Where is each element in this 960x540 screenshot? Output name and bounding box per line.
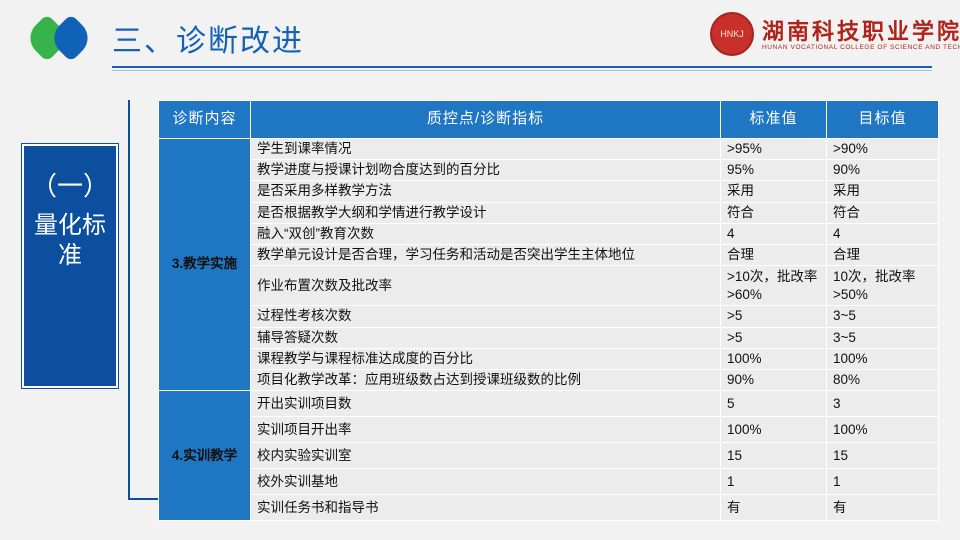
standard-cell: 95% [721,160,827,181]
standard-cell: 90% [721,369,827,390]
column-header-standard: 标准值 [721,101,827,139]
table-row: 实训项目开出率 100% 100% [159,417,939,443]
target-cell: 80% [827,369,939,390]
target-cell: 1 [827,469,939,495]
target-cell: 3 [827,391,939,417]
section-number: （一） [24,172,116,201]
indicator-cell: 辅导答疑次数 [251,327,721,348]
standard-cell: 100% [721,417,827,443]
table-row: 过程性考核次数 >5 3~5 [159,306,939,327]
table-row: 作业布置次数及批改率 >10次，批改率>60% 10次，批改率>50% [159,266,939,306]
target-cell: 90% [827,160,939,181]
standard-cell: 1 [721,469,827,495]
indicator-cell: 实训任务书和指导书 [251,495,721,521]
group-label-training: 4.实训教学 [159,391,251,521]
standard-cell: >10次，批改率>60% [721,266,827,306]
standard-cell: >95% [721,139,827,160]
indicator-cell: 是否根据教学大纲和学情进行教学设计 [251,202,721,223]
standard-cell: 15 [721,443,827,469]
table-row: 校内实验实训室 15 15 [159,443,939,469]
brand-logo-icon [30,20,104,56]
indicator-cell: 实训项目开出率 [251,417,721,443]
section-label-panel: （一） 量化标准 [22,144,118,388]
indicator-cell: 课程教学与课程标准达成度的百分比 [251,348,721,369]
indicator-cell: 项目化教学改革：应用班级数占达到授课班级数的比例 [251,369,721,390]
table-row: 4.实训教学 开出实训项目数 5 3 [159,391,939,417]
slide-header: 三、诊断改进 HNKJ 湖南科技职业学院 HUNAN VOCATIONAL CO… [0,0,960,78]
target-cell: 3~5 [827,306,939,327]
standard-cell: 有 [721,495,827,521]
target-cell: 100% [827,348,939,369]
indicator-cell: 是否采用多样教学方法 [251,181,721,202]
table-row: 教学进度与授课计划吻合度达到的百分比 95% 90% [159,160,939,181]
indicator-cell: 教学单元设计是否合理，学习任务和活动是否突出学生主体地位 [251,245,721,266]
vertical-divider [128,100,130,500]
target-cell: 10次，批改率>50% [827,266,939,306]
target-cell: 3~5 [827,327,939,348]
indicator-cell: 开出实训项目数 [251,391,721,417]
standard-cell: 100% [721,348,827,369]
table-header-row: 诊断内容 质控点/诊断指标 标准值 目标值 [159,101,939,139]
standard-cell: >5 [721,327,827,348]
standard-cell: 合理 [721,245,827,266]
table-row: 项目化教学改革：应用班级数占达到授课班级数的比例 90% 80% [159,369,939,390]
target-cell: 4 [827,223,939,244]
target-cell: 100% [827,417,939,443]
indicator-cell: 校外实训基地 [251,469,721,495]
column-header-content: 诊断内容 [159,101,251,139]
standard-cell: 符合 [721,202,827,223]
target-cell: 有 [827,495,939,521]
indicator-cell: 校内实验实训室 [251,443,721,469]
target-cell: 采用 [827,181,939,202]
quality-indicator-table: 诊断内容 质控点/诊断指标 标准值 目标值 3.教学实施 学生到课率情况 >95… [158,100,939,521]
indicator-cell: 融入“双创”教育次数 [251,223,721,244]
target-cell: 符合 [827,202,939,223]
target-cell: 15 [827,443,939,469]
table-row: 实训任务书和指导书 有 有 [159,495,939,521]
column-header-target: 目标值 [827,101,939,139]
table-row: 课程教学与课程标准达成度的百分比 100% 100% [159,348,939,369]
standard-cell: 采用 [721,181,827,202]
table-row: 是否采用多样教学方法 采用 采用 [159,181,939,202]
table-row: 教学单元设计是否合理，学习任务和活动是否突出学生主体地位 合理 合理 [159,245,939,266]
page-title: 三、诊断改进 [112,16,304,60]
indicator-cell: 学生到课率情况 [251,139,721,160]
table-row: 校外实训基地 1 1 [159,469,939,495]
bottom-divider [128,498,158,500]
target-cell: >90% [827,139,939,160]
group-label-teaching: 3.教学实施 [159,139,251,391]
school-logo: HNKJ 湖南科技职业学院 HUNAN VOCATIONAL COLLEGE O… [708,10,938,64]
header-divider-secondary [112,70,932,71]
header-divider [112,66,932,68]
table-row: 辅导答疑次数 >5 3~5 [159,327,939,348]
standard-cell: 5 [721,391,827,417]
table-row: 融入“双创”教育次数 4 4 [159,223,939,244]
indicator-cell: 教学进度与授课计划吻合度达到的百分比 [251,160,721,181]
school-name-en: HUNAN VOCATIONAL COLLEGE OF SCIENCE AND … [762,44,960,51]
standard-cell: >5 [721,306,827,327]
indicator-cell: 作业布置次数及批改率 [251,266,721,306]
table-row: 是否根据教学大纲和学情进行教学设计 符合 符合 [159,202,939,223]
column-header-indicator: 质控点/诊断指标 [251,101,721,139]
school-seal-icon: HNKJ [710,12,754,56]
target-cell: 合理 [827,245,939,266]
indicator-cell: 过程性考核次数 [251,306,721,327]
section-name: 量化标准 [24,211,116,271]
table-row: 3.教学实施 学生到课率情况 >95% >90% [159,139,939,160]
standard-cell: 4 [721,223,827,244]
school-name-cn: 湖南科技职业学院 [762,14,960,46]
